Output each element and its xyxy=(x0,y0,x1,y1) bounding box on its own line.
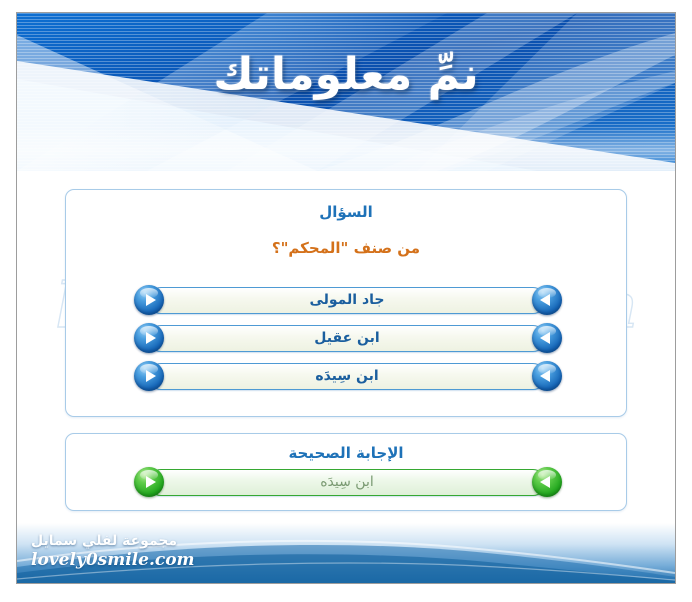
option-arrow-right-icon[interactable] xyxy=(134,361,164,391)
option-arrow-left-icon[interactable] xyxy=(532,361,562,391)
option-label: ابن سِيدَه xyxy=(148,363,546,390)
triangle-glyph xyxy=(540,370,550,382)
question-text: من صنف "المحكم"؟ xyxy=(66,239,626,257)
correct-answer-arrow-left-icon xyxy=(532,467,562,497)
option-row[interactable]: ابن عقيل xyxy=(66,324,628,354)
footer-url-text: lovely0smile.com xyxy=(31,550,195,570)
footer-banner: مجموعة لفلي سمايل lovely0smile.com xyxy=(17,523,675,583)
question-card-title: السؤال xyxy=(66,203,626,221)
content-area: lovely0smile.com السؤال من صنف "المحكم"؟… xyxy=(17,171,675,523)
option-arrow-left-icon[interactable] xyxy=(532,285,562,315)
triangle-glyph xyxy=(146,476,156,488)
correct-answer-arrow-right-icon xyxy=(134,467,164,497)
answer-options-list: جاد المولى ابن عقيل xyxy=(66,286,628,400)
option-arrow-right-icon[interactable] xyxy=(134,285,164,315)
option-arrow-right-icon[interactable] xyxy=(134,323,164,353)
option-label: ابن عقيل xyxy=(148,325,546,352)
option-arrow-left-icon[interactable] xyxy=(532,323,562,353)
triangle-glyph xyxy=(146,332,156,344)
option-label: جاد المولى xyxy=(148,287,546,314)
correct-answer-label: ابن سِيدَه xyxy=(148,469,546,496)
question-card: السؤال من صنف "المحكم"؟ جاد المولى xyxy=(65,189,627,417)
triangle-glyph xyxy=(540,332,550,344)
page-frame: نمِّ معلوماتك lovely0smile.com السؤال من… xyxy=(16,12,676,584)
screenshot-root: نمِّ معلوماتك lovely0smile.com السؤال من… xyxy=(0,0,692,602)
correct-answer-card: الإجابة الصحيحة ابن سِيدَه xyxy=(65,433,627,511)
correct-answer-row-wrap: ابن سِيدَه xyxy=(66,468,628,506)
correct-answer-title: الإجابة الصحيحة xyxy=(66,444,626,462)
header-banner: نمِّ معلوماتك xyxy=(17,13,675,171)
option-row[interactable]: ابن سِيدَه xyxy=(66,362,628,392)
footer-branding: مجموعة لفلي سمايل lovely0smile.com xyxy=(31,533,195,570)
correct-answer-row: ابن سِيدَه xyxy=(66,468,628,498)
option-row[interactable]: جاد المولى xyxy=(66,286,628,316)
footer-arabic-text: مجموعة لفلي سمايل xyxy=(31,533,195,549)
site-logo-title: نمِّ معلوماتك xyxy=(17,47,675,102)
triangle-glyph xyxy=(146,294,156,306)
triangle-glyph xyxy=(540,476,550,488)
triangle-glyph xyxy=(146,370,156,382)
triangle-glyph xyxy=(540,294,550,306)
